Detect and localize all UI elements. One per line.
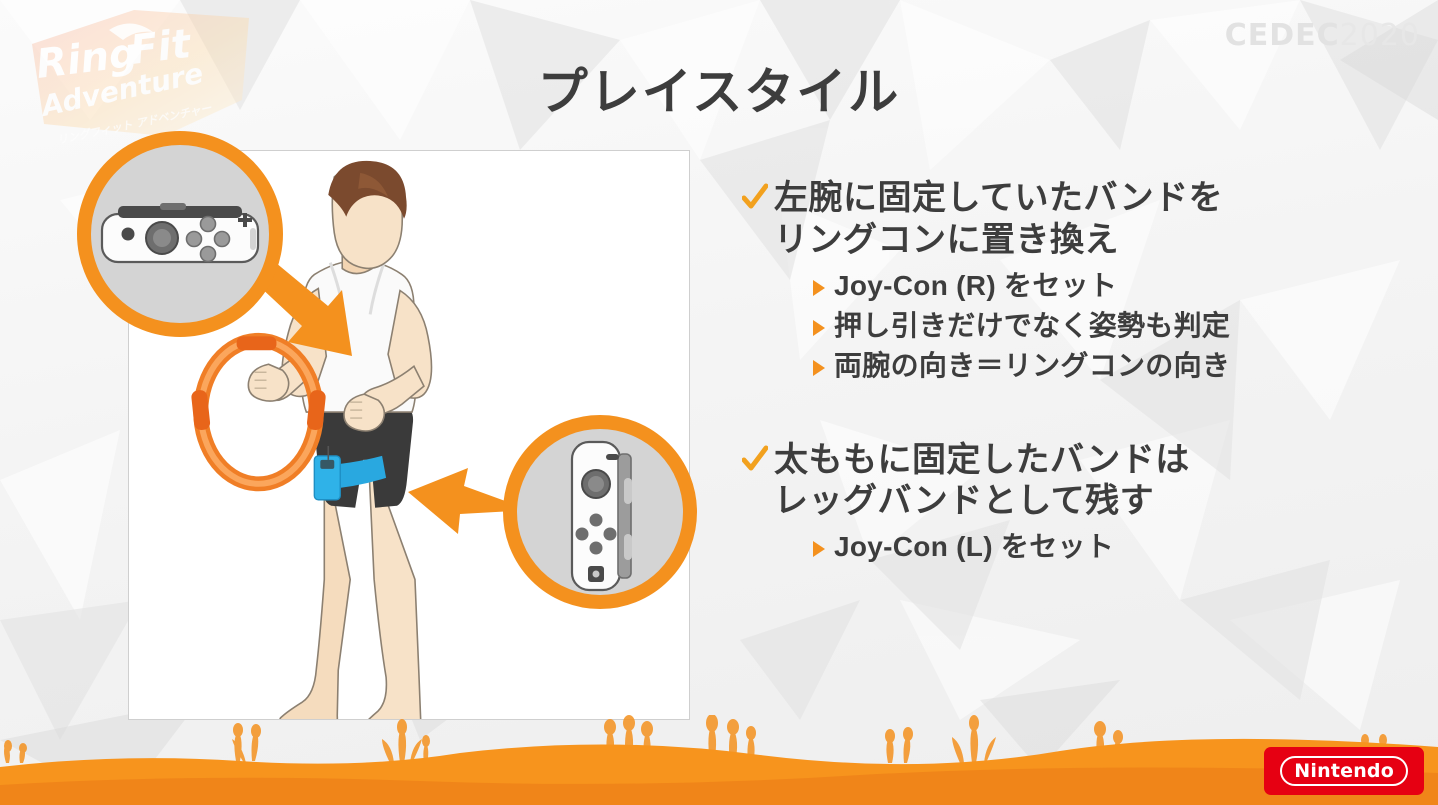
check-icon bbox=[742, 178, 768, 218]
sub-bullet: 両腕の向き＝リングコンの向き bbox=[812, 348, 1402, 386]
bullet-list: 左腕に固定していたバンドを リングコンに置き換え Joy-Con (R) をセッ… bbox=[742, 178, 1402, 585]
bullet-2-line-2: レッグバンドとして残す bbox=[774, 481, 1190, 523]
bullet-1-line-1: 左腕に固定していたバンドを bbox=[774, 178, 1223, 220]
nintendo-logo-label: Nintendo bbox=[1280, 756, 1408, 786]
bullet-primary-2-text: 太ももに固定したバンドは レッグバンドとして残す bbox=[774, 440, 1190, 524]
nintendo-logo: Nintendo bbox=[1264, 747, 1424, 795]
sub-bullet-label: Joy-Con (L) をセット bbox=[834, 529, 1114, 566]
bullet-primary-1-text: 左腕に固定していたバンドを リングコンに置き換え bbox=[774, 178, 1223, 262]
bullet-2-line-1: 太ももに固定したバンドは bbox=[774, 440, 1190, 482]
bullet-1-line-2: リングコンに置き換え bbox=[774, 220, 1223, 262]
cedec-year: 2020 bbox=[1340, 18, 1420, 53]
ground-decoration bbox=[0, 715, 1438, 805]
bullet-1-subs: Joy-Con (R) をセット 押し引きだけでなく姿勢も判定 両腕の向き＝リン… bbox=[812, 268, 1402, 386]
sub-bullet: Joy-Con (R) をセット bbox=[812, 268, 1402, 306]
triangle-bullet-icon bbox=[812, 352, 826, 386]
joy-con-r-callout bbox=[84, 138, 276, 330]
bullet-2-subs: Joy-Con (L) をセット bbox=[812, 529, 1402, 567]
check-icon bbox=[742, 440, 768, 480]
bullet-spacer bbox=[742, 404, 1402, 440]
cedec-logo: CEDEC2020 bbox=[1225, 18, 1420, 53]
triangle-bullet-icon bbox=[812, 312, 826, 346]
slide: Ring Fit Adventure リングフィット アドベンチャー CEDEC… bbox=[0, 0, 1438, 805]
sub-bullet: 押し引きだけでなく姿勢も判定 bbox=[812, 308, 1402, 346]
joy-con-l-callout bbox=[510, 422, 690, 602]
bullet-block-2: 太ももに固定したバンドは レッグバンドとして残す Joy-Con (L) をセッ… bbox=[742, 440, 1402, 568]
callout-layer bbox=[60, 120, 740, 760]
triangle-bullet-icon bbox=[812, 533, 826, 567]
bullet-primary-1: 左腕に固定していたバンドを リングコンに置き換え bbox=[742, 178, 1402, 262]
triangle-bullet-icon bbox=[812, 272, 826, 306]
bullet-block-1: 左腕に固定していたバンドを リングコンに置き換え Joy-Con (R) をセッ… bbox=[742, 178, 1402, 386]
bullet-primary-2: 太ももに固定したバンドは レッグバンドとして残す bbox=[742, 440, 1402, 524]
cedec-word: CEDEC bbox=[1225, 18, 1340, 53]
sub-bullet: Joy-Con (L) をセット bbox=[812, 529, 1402, 567]
page-title: プレイスタイル bbox=[0, 52, 1438, 124]
sub-bullet-label: Joy-Con (R) をセット bbox=[834, 268, 1117, 305]
sub-bullet-label: 両腕の向き＝リングコンの向き bbox=[834, 348, 1230, 385]
sub-bullet-label: 押し引きだけでなく姿勢も判定 bbox=[834, 308, 1230, 345]
